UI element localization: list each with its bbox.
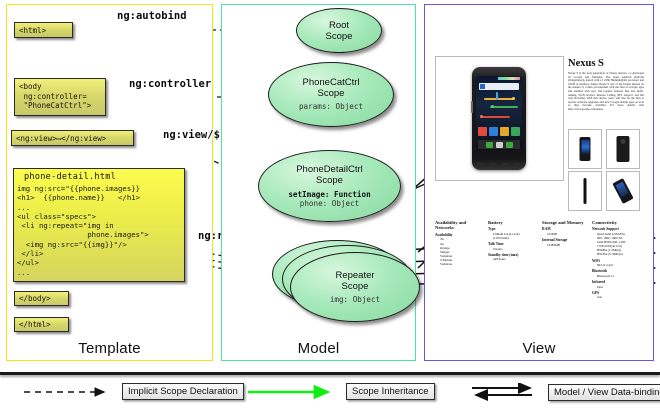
phone-search-widget [479,83,519,90]
product-description: Nexus S is the next generation of Nexus … [568,72,644,112]
thumb-angle-icon [612,178,633,204]
template-body-tag: <body ng:controller= "PhoneCatCtrl"> [14,78,106,116]
spec-column-storage: Storage and Memory RAM 512MB Internal St… [542,220,592,247]
scope-root: Root Scope [296,8,382,53]
template-body-end-tag: </body> [14,291,69,306]
thumbnail-angle[interactable] [606,171,640,211]
phone-side-button [471,101,473,113]
spec-column-battery: Battery Type Lithium Ion (Li-Ion) (1500 … [488,220,538,262]
spec-header-2: Storage and Memory [542,220,592,225]
thumb-front-icon [580,137,591,161]
legend-label-inheritance: Scope Inheritance [346,383,435,400]
spec-val-3-2-0: Bluetooth 2.1 [592,274,646,278]
wallpaper-stripe-1 [484,98,514,100]
legend-divider [0,372,660,375]
spec-column-availability: Availability and Networks Availability 3… [435,220,481,266]
wallpaper-stripe-4 [496,92,498,100]
scope-phonecatctrl-prop-params: params: Object [299,102,363,112]
scope-phonedetailctrl-line1: PhoneDetailCtrl [296,164,363,175]
thumbnail-front[interactable] [568,129,602,169]
template-html-tag: <html> [14,22,73,38]
wallpaper-stripe-2 [490,106,518,108]
legend-double-arrow-icon [470,383,540,401]
phone-detail-code: img ng:src="{{phone.images}} <h1> {{phon… [14,184,184,277]
template-ngview-tag: <ng:view>▭</ng:view> [11,130,134,146]
legend-label-databinding: Model / View Data-binding [548,384,660,401]
wallpaper-stripe-3 [480,116,510,118]
scope-phonecatctrl-line1: PhoneCatCtrl [302,77,359,88]
spec-val-2-1-0: 16384MB [542,243,592,247]
phone-dock [478,140,520,149]
dock-icon-1 [486,142,493,148]
thumb-side-icon [584,178,587,204]
scope-repeater-line2: Scope [342,281,369,292]
scope-repeater-prop-img: img: Object [330,295,380,305]
edge-label-controller: ng:controller [129,78,211,90]
phone-hardware-buttons [477,163,521,168]
edge-label-autobind: ng:autobind [117,10,187,22]
panel-template-label: Template [7,340,212,357]
wallpaper-dot-3 [480,115,483,118]
legend-dashed-arrow-icon [22,384,114,400]
wallpaper-dot-2 [491,105,494,108]
legend-item-inheritance: Scope Inheritance [246,383,435,400]
angularjs-scope-diagram: Template <html> <body ng:controller= "Ph… [0,0,660,420]
template-html-end-tag: </html> [14,317,69,332]
spec-val-1-1-0: 6 hours [488,247,538,251]
hero-image-frame [435,56,564,181]
spec-val-1-0-1: (1500 mAh) [488,236,538,240]
scope-repeater: Repeater Scope img: Object [290,252,420,322]
app-icon-2 [489,127,498,136]
legend-green-arrow-icon [246,384,338,400]
spec-header-1: Battery [488,220,538,225]
spec-column-connectivity: Connectivity Network Support Quad-band G… [592,220,646,299]
spec-val-3-0-5: HSUPA (5.76Mbps) [592,252,646,256]
scope-phonedetailctrl: PhoneDetailCtrl Scope setImage: Function… [258,150,401,222]
scope-root-line1: Root [329,20,349,31]
scope-phonecatctrl: PhoneCatCtrl Scope params: Object [268,62,394,127]
scope-phonedetailctrl-prop-phone: phone: Object [300,199,359,209]
hw-button-back [477,163,485,167]
spec-val-3-4-0: true [592,295,646,299]
hw-button-menu [489,163,497,167]
legend-item-databinding: Model / View Data-binding [470,383,660,401]
spec-val-3-3-0: false [592,285,646,289]
thumb-back-icon [617,136,630,162]
phone-screen [476,76,522,150]
dock-icon-3 [506,142,513,148]
legend-label-implicit: Implicit Scope Declaration [122,383,244,400]
product-title: Nexus S [568,58,604,69]
spec-val-1-2-0: 428 hours [488,257,538,261]
hw-button-search [501,163,509,167]
thumbnail-side[interactable] [568,171,602,211]
dock-icon-2 [496,142,503,148]
app-icon-1 [478,127,487,136]
phone-statusbar [498,77,520,80]
phone-detail-template-card: phone-detail.html img ng:src="{{phone.im… [13,168,185,282]
phone-hero-image [472,67,526,170]
legend-item-implicit: Implicit Scope Declaration [22,383,244,400]
phone-detail-filename: phone-detail.html [14,169,184,184]
rendered-view-mock: Nexus S Nexus S is the next generation o… [432,16,646,338]
app-icon-4 [511,127,520,136]
spec-header-3: Connectivity [592,220,646,225]
scope-phonedetailctrl-line2: Scope [316,175,343,186]
panel-view-label: View [425,340,653,357]
spec-header-0: Availability and Networks [435,220,481,231]
scope-phonecatctrl-line2: Scope [318,88,345,99]
scope-root-line2: Scope [326,31,353,42]
thumbnail-back[interactable] [606,129,640,169]
panel-model-label: Model [222,340,415,357]
spec-val-0-0-6: Vodafone [435,262,481,266]
scope-repeater-line1: Repeater [335,270,374,281]
phone-app-icons [478,127,520,139]
scope-phonedetailctrl-prop-setimage: setImage: Function [288,190,370,199]
hw-button-home [513,163,521,167]
spec-val-3-1-0: 802.11 b/g/n [592,263,646,267]
spec-val-2-0-0: 512MB [542,232,592,236]
app-icon-3 [500,127,509,136]
wallpaper-dot-1 [512,97,515,100]
